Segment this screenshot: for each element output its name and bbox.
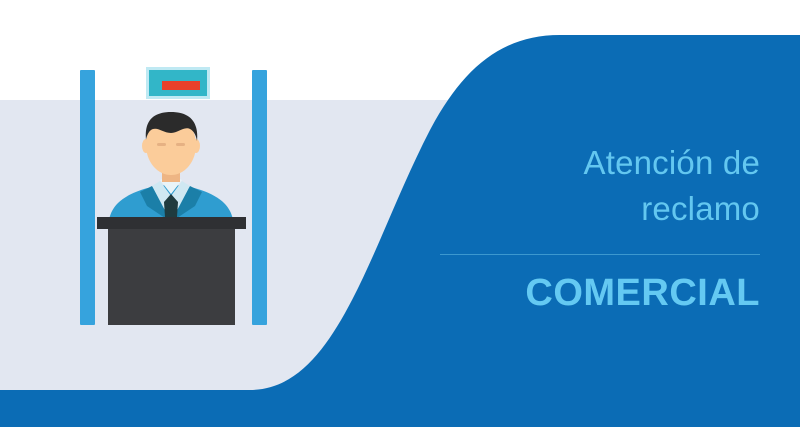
headline-block: Atención de reclamo <box>430 140 760 232</box>
banner-root: Atención de reclamo COMERCIAL <box>0 0 800 427</box>
illustration-scene <box>0 0 340 340</box>
reception-desk-top <box>97 217 246 229</box>
clerk-eye-left <box>157 143 166 146</box>
reception-desk-body <box>108 229 235 325</box>
page-title: Atención de reclamo <box>430 140 760 232</box>
clerk-ear-left <box>142 139 150 153</box>
divider <box>440 254 760 255</box>
clerk-ear-right <box>192 139 200 153</box>
clerk-eye-right <box>176 143 185 146</box>
subtitle: COMERCIAL <box>360 272 760 315</box>
